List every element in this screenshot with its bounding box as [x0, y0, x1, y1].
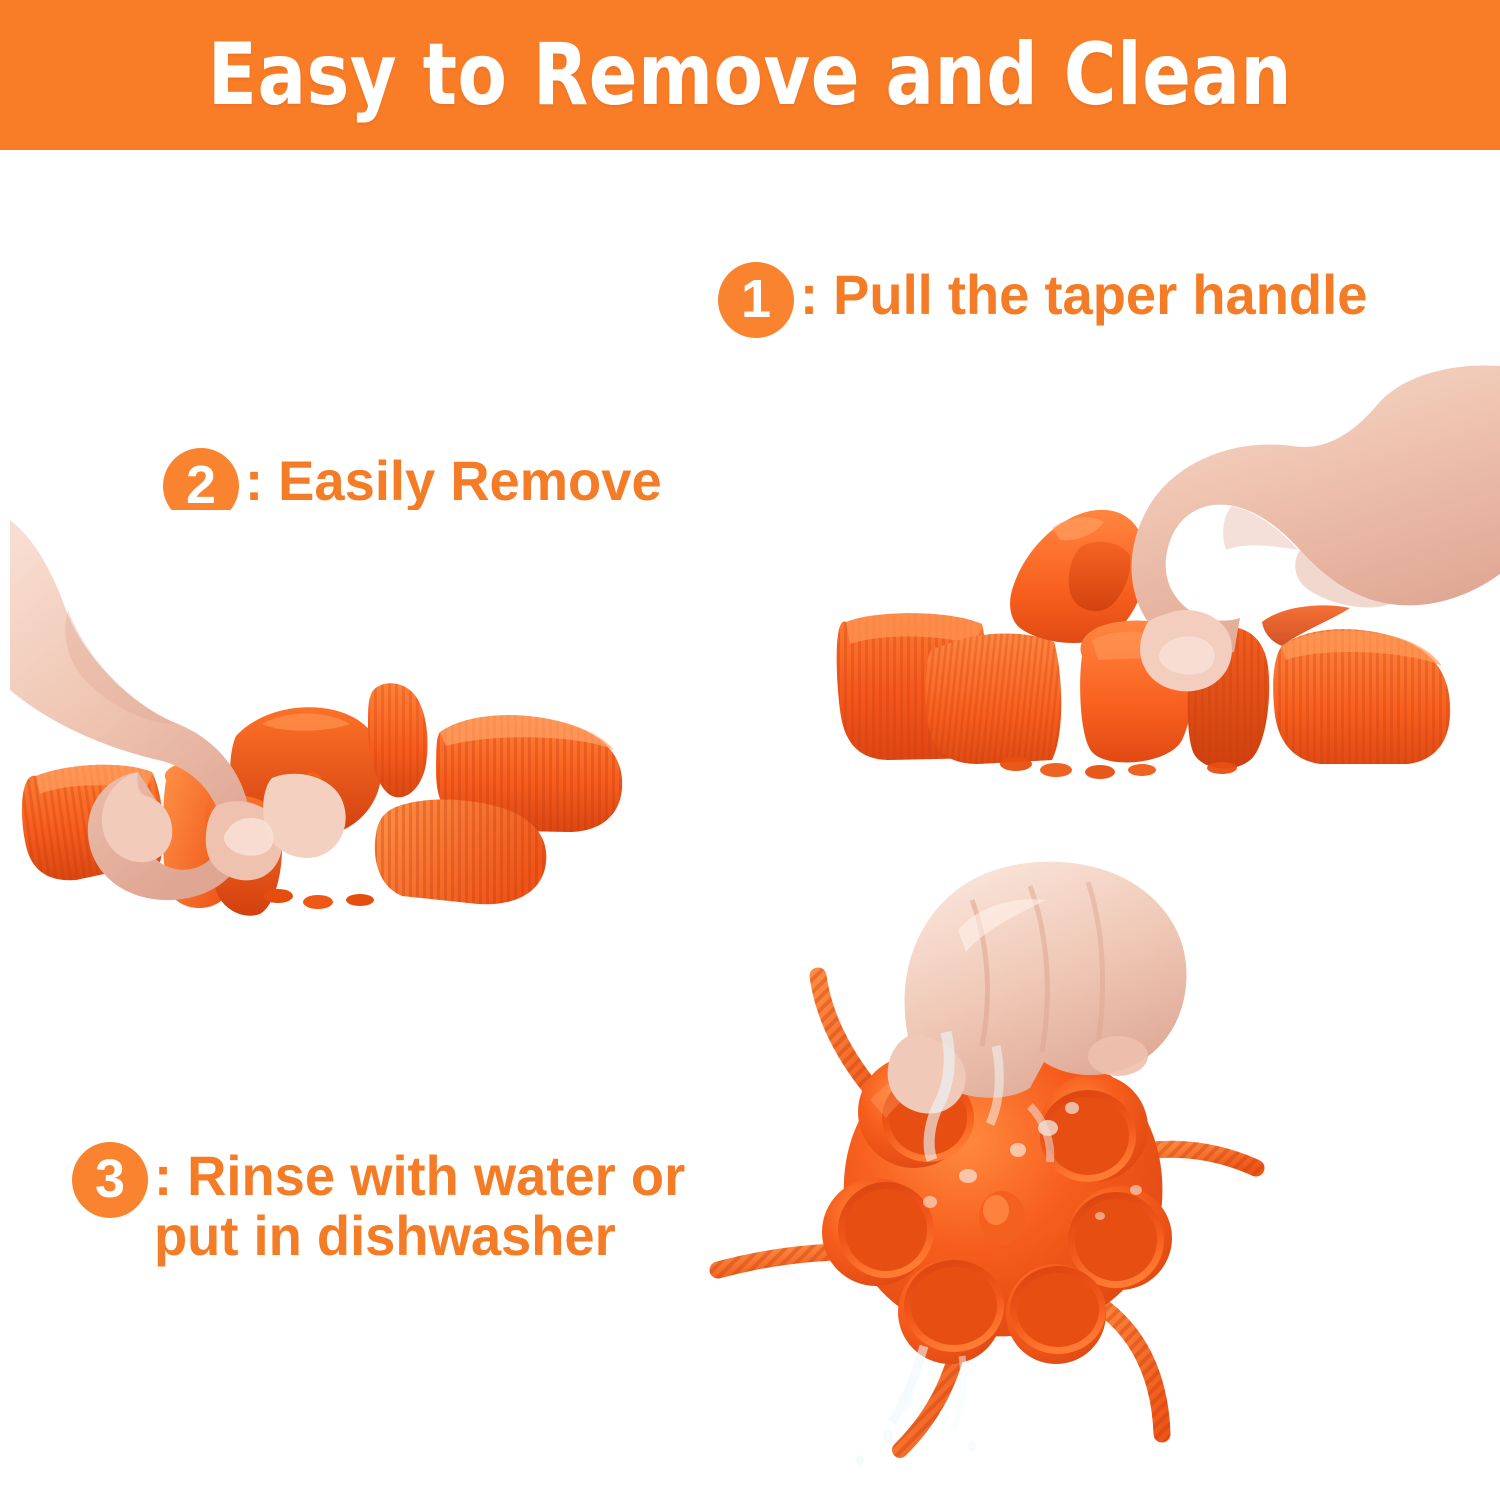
step-2-number: 2 [186, 458, 216, 513]
step-2-photo [10, 510, 650, 920]
step-1-number: 1 [741, 272, 771, 327]
center-nub [979, 1191, 1025, 1245]
step-1-caption: 1 : Pull the taper handle [718, 262, 1385, 338]
step-2-label: : Easily Remove [245, 448, 662, 509]
strainer-flap-left-mid [925, 633, 1061, 764]
step-3-number: 3 [95, 1152, 125, 1207]
page-title: Easy to Remove and Clean [208, 32, 1292, 118]
step-3-badge: 3 [72, 1142, 148, 1218]
infographic-page: Easy to Remove and Clean 1 : Pull the ta… [0, 0, 1500, 1500]
step-3-caption: 3 : Rinse with water or put in dishwashe… [72, 1142, 702, 1267]
step-1-badge: 1 [718, 262, 794, 338]
step-3-label: : Rinse with water or put in dishwasher [154, 1142, 685, 1267]
step-1-photo [830, 360, 1500, 780]
step-3-photo [700, 860, 1300, 1480]
header-banner: Easy to Remove and Clean [0, 0, 1500, 150]
strainer-flap-right [1273, 629, 1450, 764]
step-1-label: : Pull the taper handle [800, 262, 1367, 323]
